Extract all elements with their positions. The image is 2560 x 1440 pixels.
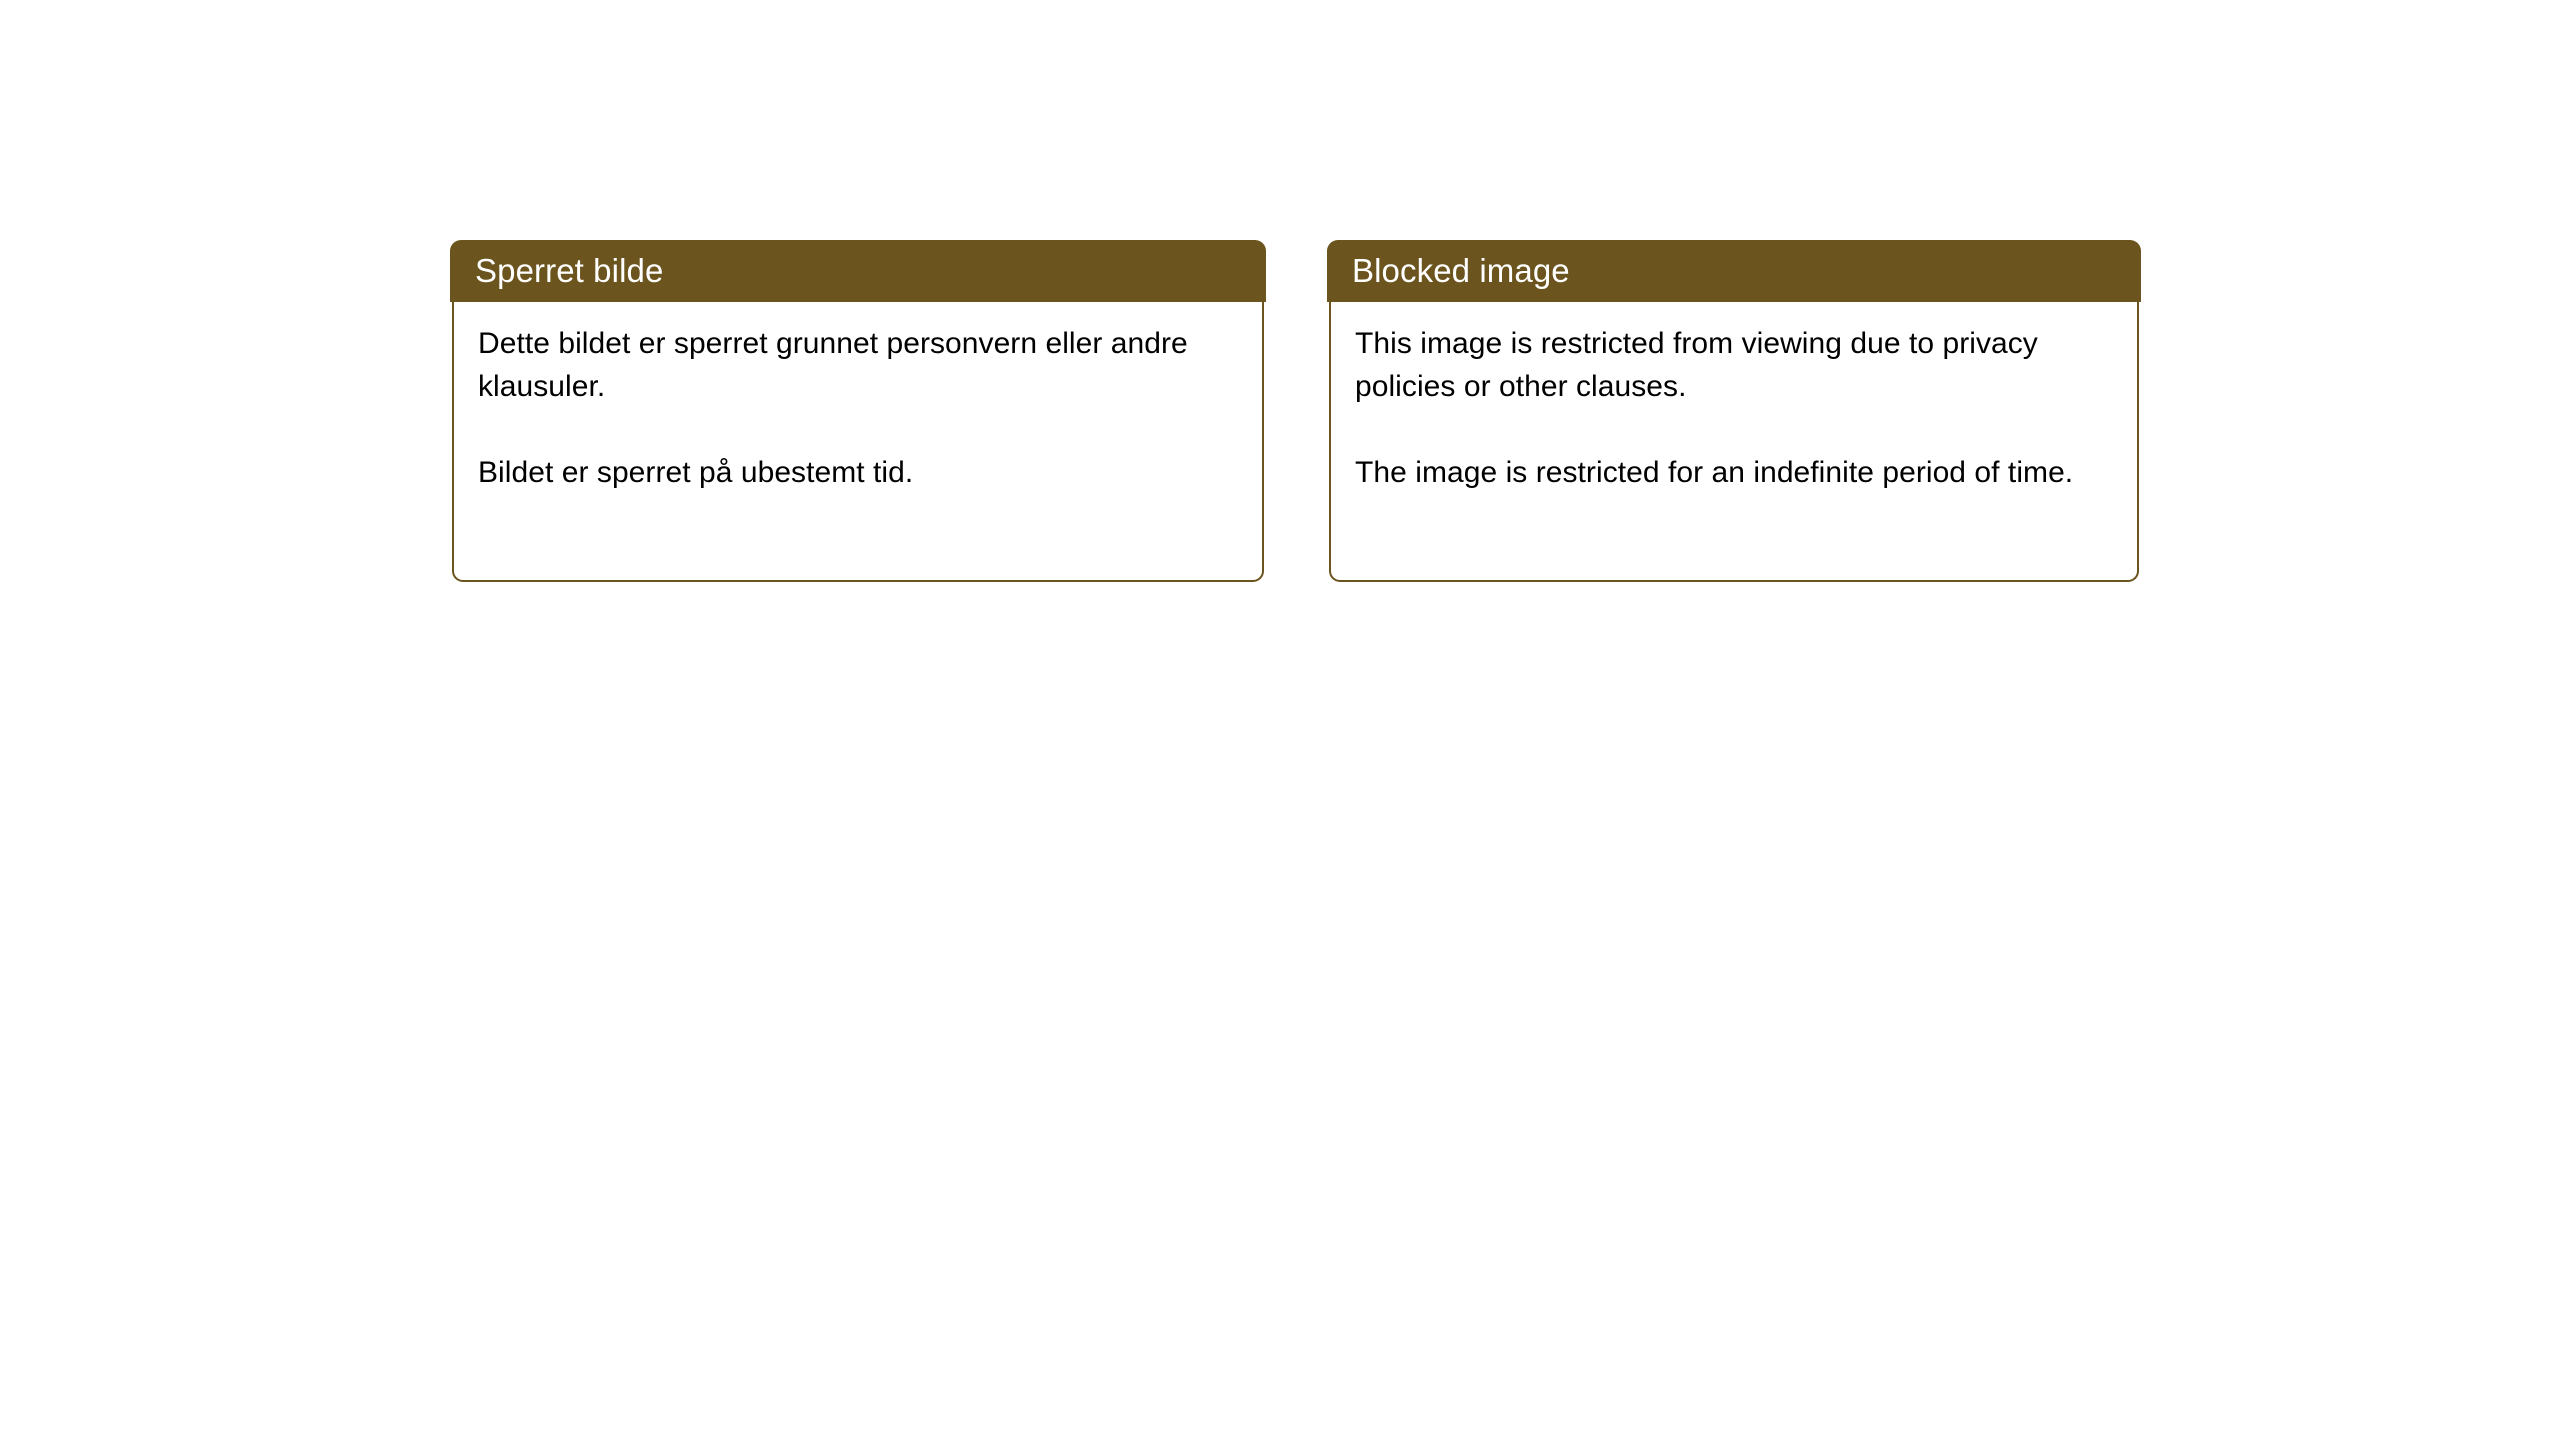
card-title-no: Sperret bilde xyxy=(475,252,663,290)
card-paragraph-secondary-no: Bildet er sperret på ubestemt tid. xyxy=(478,451,1236,494)
blocked-image-notice-card-en: Blocked image This image is restricted f… xyxy=(1327,240,2141,582)
card-body-no: Dette bildet er sperret grunnet personve… xyxy=(452,300,1264,582)
card-body-en: This image is restricted from viewing du… xyxy=(1329,300,2139,582)
card-header-no: Sperret bilde xyxy=(450,240,1266,302)
blocked-image-notice-card-no: Sperret bilde Dette bildet er sperret gr… xyxy=(450,240,1266,582)
card-header-en: Blocked image xyxy=(1327,240,2141,302)
page-root: Sperret bilde Dette bildet er sperret gr… xyxy=(0,0,2560,1440)
card-paragraph-primary-en: This image is restricted from viewing du… xyxy=(1355,322,2111,408)
card-title-en: Blocked image xyxy=(1352,252,1570,290)
card-paragraph-secondary-en: The image is restricted for an indefinit… xyxy=(1355,451,2111,494)
card-paragraph-primary-no: Dette bildet er sperret grunnet personve… xyxy=(478,322,1236,408)
